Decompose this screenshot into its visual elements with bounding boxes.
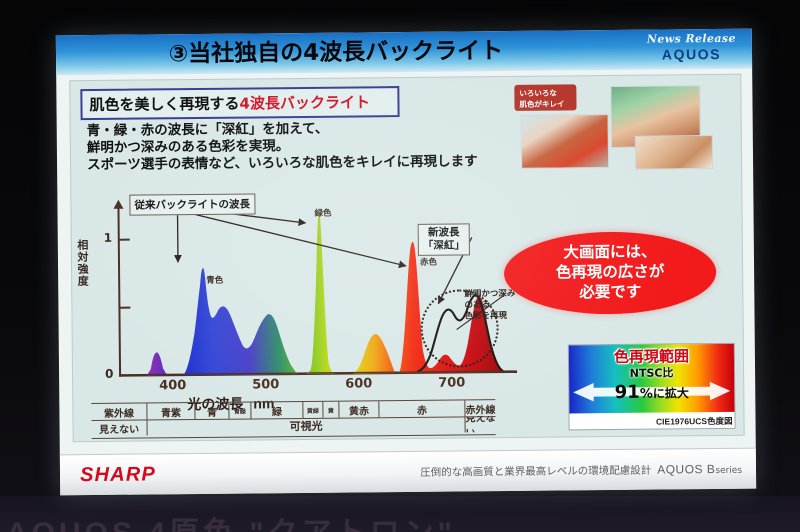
band-cell: 青緑: [229, 402, 251, 418]
band-cell: 赤: [379, 400, 465, 417]
annotation-legacy-wavelengths: 従来バックライトの波長: [129, 193, 255, 215]
visibility-cell: 見えない: [92, 419, 148, 436]
chart-y-axis-label: 相対強度: [74, 239, 90, 287]
visibility-cell: 可視光: [147, 416, 465, 435]
band-cell: 青: [195, 403, 229, 419]
vivid-line2: 色彩を再現: [464, 311, 507, 321]
news-release-brand: News Release AQUOS: [647, 32, 736, 63]
photo-badge-line2: 肌色がキレイ: [519, 99, 564, 108]
slide-header: ③当社独自の4波長バックライト News Release AQUOS: [56, 29, 752, 76]
subtitle-prefix: 肌色を美しく再現する: [89, 95, 239, 114]
visibility-cell: 見えない: [465, 416, 495, 432]
callout-line-2: 色再現の広さが: [504, 261, 716, 283]
x-tick-label-700: 700: [438, 375, 465, 390]
photo-group: いろいろな 肌色がキレイ: [514, 81, 733, 167]
annotation-new-wavelength: 新波長 「深紅」: [418, 223, 470, 255]
x-tick-label-600: 600: [345, 376, 372, 391]
presentation-slide: ③当社独自の4波長バックライト News Release AQUOS 肌色を美し…: [56, 29, 756, 496]
x-tick-label-400: 400: [159, 378, 186, 393]
gamut-value: 91: [615, 382, 640, 403]
y-tick-label-1: 1: [104, 231, 112, 245]
page-title: ③当社独自の4波長バックライト: [56, 32, 616, 73]
band-cell: 黄緑: [303, 402, 323, 418]
footer-tagline: 圧倒的な高画質と業界最高レベルの環境配慮設計: [420, 465, 651, 479]
gamut-value-row: 91%に拡大: [569, 381, 734, 404]
annotation-vivid-color: 鮮明かつ深みのある 色彩を再現: [464, 289, 516, 322]
section-subtitle: 肌色を美しく再現する4波長バックライト: [89, 91, 370, 115]
aquos-logo: AQUOS: [647, 46, 736, 63]
band-cell: 紫外線: [91, 403, 147, 420]
x-tick-label-500: 500: [252, 377, 279, 392]
band-cell: 黄赤: [339, 401, 379, 417]
band-table-row-visibility: 見えない 可視光 見えない: [92, 416, 496, 436]
gamut-suffix: に拡大: [653, 386, 689, 400]
photo-baby: [635, 135, 713, 170]
gamut-subtitle: NTSC比: [569, 364, 734, 382]
band-cell: 青紫: [147, 403, 195, 419]
photo-of-projected-slide: AQUOS 4原色 "クアトロン" ③当社独自の4波長バックライト News R…: [0, 0, 800, 532]
band-cell: 黄: [323, 402, 339, 418]
background-ghost-text: AQUOS 4原色 "クアトロン": [0, 508, 800, 532]
photo-badge-line1: いろいろな: [519, 89, 557, 98]
y-tick-label-0: 0: [105, 367, 113, 381]
gamut-caption: CIE1976UCS色度図: [569, 415, 735, 429]
callout-line-3: 必要です: [504, 281, 716, 303]
gamut-percent: %: [640, 387, 653, 402]
footer-series: series: [715, 466, 742, 476]
new-wavelength-line2: 「深紅」: [423, 239, 465, 251]
photo-woman-drinking: [521, 114, 610, 169]
callout-ellipse: 大画面には、 色再現の広さが 必要です: [504, 231, 717, 315]
photo-badge: いろいろな 肌色がキレイ: [514, 84, 576, 111]
color-gamut-box: 色再現範囲 NTSC比 91%に拡大 CIE1976UCS色度図: [568, 343, 736, 431]
vivid-line1: 鮮明かつ深みのある: [464, 289, 515, 310]
sharp-logo: SHARP: [80, 463, 156, 487]
body-copy: 青・緑・赤の波長に「深紅」を加えて、 鮮明かつ深みのある色彩を実現。 スポーツ選…: [87, 119, 507, 174]
spectrum-chart: 相対強度 1 0 400 500 600 700 光の波長nm: [95, 197, 517, 397]
callout-line-1: 大画面には、: [504, 241, 716, 263]
news-release-label: News Release: [647, 32, 736, 46]
footer-tagline-group: 圧倒的な高画質と業界最高レベルの環境配慮設計AQUOS Bseries: [420, 462, 742, 480]
band-cell: 緑: [251, 402, 303, 418]
section-subtitle-box: 肌色を美しく再現する4波長バックライト: [80, 86, 399, 120]
band-cell: 赤外線: [465, 400, 495, 416]
arrow-to-red: [186, 210, 407, 268]
wavelength-band-table: 紫外線 青紫 青 青緑 緑 黄緑 黄 黄赤 赤 赤外線 見えない 可視光 見えな…: [91, 399, 495, 439]
content-panel: 肌色を美しく再現する4波長バックライト 青・緑・赤の波長に「深紅」を加えて、 鮮…: [69, 74, 744, 442]
subtitle-highlight: 4波長バックライト: [239, 93, 370, 112]
body-line-3: スポーツ選手の表情など、いろいろな肌色をキレイに再現します: [87, 153, 507, 174]
new-wavelength-line1: 新波長: [428, 226, 460, 238]
slide-footer: SHARP 圧倒的な高画質と業界最高レベルの環境配慮設計AQUOS Bserie…: [60, 448, 756, 496]
footer-product: AQUOS B: [657, 462, 715, 477]
